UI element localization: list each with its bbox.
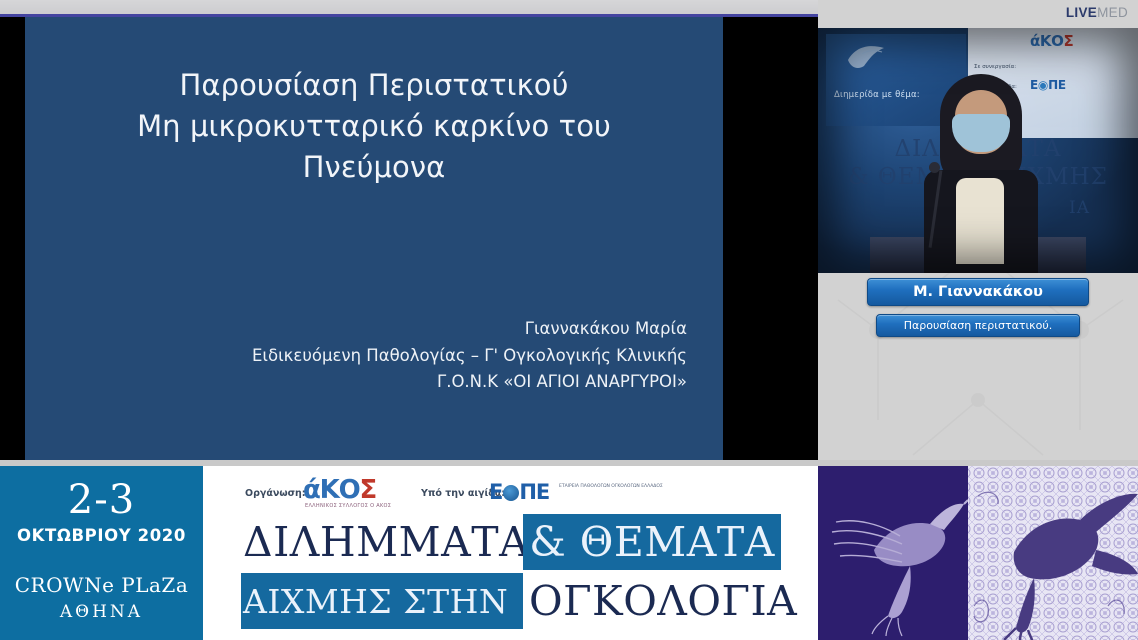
hummingbird-artwork bbox=[818, 466, 1138, 640]
banner-word-ogkologia: ΟΓΚΟΛΟΓΙΑ bbox=[523, 573, 781, 629]
slide-author-block: Γιαννακάκου Μαρία Ειδικευόμενη Παθολογία… bbox=[252, 316, 687, 396]
author-name: Γιαννακάκου Μαρία bbox=[252, 316, 687, 343]
livemed-live-text: LIVE bbox=[1066, 5, 1097, 20]
eope-letters-pe: ΠΕ bbox=[519, 480, 549, 504]
slide-title-line-3: Πνεύμονα bbox=[59, 147, 689, 188]
livestream-player: Παρουσίαση Περιστατικού Μη μικροκυτταρικ… bbox=[0, 0, 1138, 640]
event-city: ΑΘΗΝΑ bbox=[0, 602, 203, 622]
hummingbird-drawing bbox=[818, 466, 1138, 640]
slide-title: Παρουσίαση Περιστατικού Μη μικροκυτταρικ… bbox=[25, 65, 723, 189]
event-footer: 2-3 ΟΚΤΩΒΡΙΟΥ 2020 CROWNe PLaZa ΑΘΗΝΑ Ορ… bbox=[0, 460, 1138, 640]
video-vignette bbox=[818, 28, 1138, 273]
banner-word-dilimmata: ΔΙΛΗΜΜΑΤΑ bbox=[241, 514, 523, 570]
eope-letter-e: E bbox=[489, 480, 502, 504]
slide-stage[interactable]: Παρουσίαση Περιστατικού Μη μικροκυτταρικ… bbox=[0, 14, 818, 460]
banner-word-themata: & ΘΕΜΑΤΑ bbox=[523, 514, 781, 570]
presentation-slide: Παρουσίαση Περιστατικού Μη μικροκυτταρικ… bbox=[25, 17, 723, 460]
akos-logo-subtitle: ΕΛΛΗΝΙΚΟΣ ΣΥΛΛΟΓΟΣ Ο ΑΚΟΣ bbox=[305, 503, 391, 509]
event-date-block: 2-3 ΟΚΤΩΒΡΙΟΥ 2020 CROWNe PLaZa ΑΘΗΝΑ bbox=[0, 466, 203, 640]
author-institution: Γ.Ο.Ν.Κ «ΟΙ ΑΓΙΟΙ ΑΝΑΡΓΥΡΟΙ» bbox=[252, 369, 687, 396]
right-panel: LIVEMED Διημερίδα με θέμα: άΚΟΣ Σε συνερ… bbox=[818, 0, 1138, 460]
event-banner: Οργάνωση: άΚΟΣ ΕΛΛΗΝΙΚΟΣ ΣΥΛΛΟΓΟΣ Ο ΑΚΟΣ… bbox=[203, 466, 818, 640]
speaker-badges: Μ. Γιαννακάκου Παρουσίαση περιστατικού. bbox=[818, 278, 1138, 345]
author-role: Ειδικευόμενη Παθολογίας – Γ' Ογκολογικής… bbox=[252, 343, 687, 370]
speaker-video[interactable]: Διημερίδα με θέμα: άΚΟΣ Σε συνεργασία: Υ… bbox=[818, 28, 1138, 273]
livemed-logo: LIVEMED bbox=[1066, 5, 1128, 20]
slide-title-line-1: Παρουσίαση Περιστατικού bbox=[59, 65, 689, 106]
eope-logo-subtitle: ΕΤΑΙΡΕΙΑ ΠΑΘΟΛΟΓΩΝ ΟΓΚΟΛΟΓΩΝ ΕΛΛΑΔΟΣ bbox=[559, 484, 663, 491]
globe-icon bbox=[503, 485, 519, 501]
speaker-name-badge[interactable]: Μ. Γιαννακάκου bbox=[867, 278, 1089, 306]
slide-title-line-2: Μη μικροκυτταρικό καρκίνο του bbox=[59, 106, 689, 147]
banner-title-grid: ΔΙΛΗΜΜΑΤΑ & ΘΕΜΑΤΑ ΑΙΧΜΗΣ ΣΤΗΝ ΟΓΚΟΛΟΓΙΑ bbox=[241, 514, 781, 632]
livemed-med-text: MED bbox=[1097, 5, 1128, 20]
banner-title-row-2: ΑΙΧΜΗΣ ΣΤΗΝ ΟΓΚΟΛΟΓΙΑ bbox=[241, 573, 781, 629]
akos-logo: άΚΟΣ bbox=[303, 475, 376, 505]
eope-logo: EΠΕ bbox=[489, 480, 549, 504]
sponsor-row: Οργάνωση: άΚΟΣ ΕΛΛΗΝΙΚΟΣ ΣΥΛΛΟΓΟΣ Ο ΑΚΟΣ… bbox=[241, 472, 781, 512]
event-venue: CROWNe PLaZa bbox=[0, 573, 203, 597]
event-date-number: 2-3 bbox=[0, 480, 203, 520]
banner-title-row-1: ΔΙΛΗΜΜΑΤΑ & ΘΕΜΑΤΑ bbox=[241, 514, 781, 570]
banner-word-aichmis: ΑΙΧΜΗΣ ΣΤΗΝ bbox=[241, 573, 523, 629]
organizer-label: Οργάνωση: bbox=[245, 488, 306, 499]
speaker-topic-badge[interactable]: Παρουσίαση περιστατικού. bbox=[876, 314, 1080, 337]
event-date-month: ΟΚΤΩΒΡΙΟΥ 2020 bbox=[0, 526, 203, 545]
